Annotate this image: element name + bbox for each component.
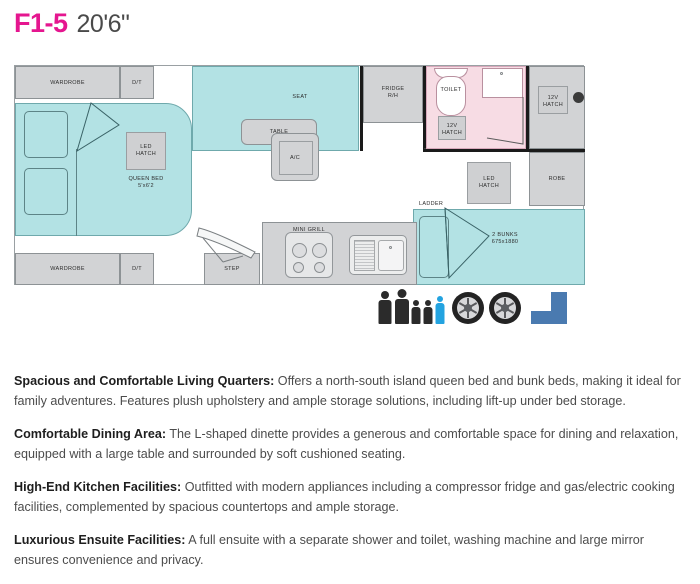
model-length: 20'6" xyxy=(77,10,130,39)
adult-icon-1-body xyxy=(379,300,392,324)
child-icon-2-head xyxy=(425,300,431,306)
kitchen-bench: MINI GRILL xyxy=(262,222,417,285)
model-code: F1-5 xyxy=(14,8,68,39)
adult-icon-1 xyxy=(378,291,392,324)
kitchen-sink xyxy=(349,235,407,275)
ladder-swing xyxy=(443,208,499,284)
ac-inner xyxy=(279,141,313,175)
dt-bottom: D/T xyxy=(120,253,154,285)
entry-door-swing xyxy=(193,222,265,270)
l-shape-horizontal xyxy=(531,311,567,324)
l-shape-layout-icon xyxy=(531,292,567,324)
wheel-icon-1 xyxy=(452,292,484,324)
rear-top-compartment: 12VHATCH xyxy=(529,66,585,149)
air-conditioner: A/C xyxy=(271,133,319,181)
under-bed-storage-upper xyxy=(24,111,68,158)
burner-3 xyxy=(293,262,304,273)
child-icon-1-body xyxy=(412,307,421,324)
occupancy-icon-strip xyxy=(378,288,567,324)
led-hatch-bed-label: LEDHATCH xyxy=(127,144,165,159)
wall-fridge-left xyxy=(360,66,363,151)
page-title: F1-5 20'6" xyxy=(14,8,129,39)
sink-drain-board xyxy=(354,240,375,271)
feature-item-2: Comfortable Dining Area: The L-shaped di… xyxy=(14,424,686,464)
hatch-12v-bathroom-label: 12VHATCH xyxy=(439,123,465,138)
child-icon-1 xyxy=(411,300,421,324)
wardrobe-bottom-label: WARDROBE xyxy=(16,266,119,273)
feature-item-4: Luxurious Ensuite Facilities: A full ens… xyxy=(14,530,686,570)
feature-1-title: Spacious and Comfortable Living Quarters… xyxy=(14,374,274,388)
wheel-icon-2-hub xyxy=(501,304,509,312)
under-bed-storage-lower xyxy=(24,168,68,215)
child-icon-3-body xyxy=(436,303,445,324)
wheel-icon-2 xyxy=(489,292,521,324)
feature-3-title: High-End Kitchen Facilities: xyxy=(14,480,181,494)
bunk-area xyxy=(413,209,585,285)
shower-door-swing xyxy=(477,96,529,148)
child-icon-2 xyxy=(423,300,433,324)
adult-icon-1-head xyxy=(381,291,389,299)
spare-wheel-icon xyxy=(573,92,584,103)
sink-basin xyxy=(378,240,404,271)
feature-2-title: Comfortable Dining Area: xyxy=(14,427,166,441)
fridge-label: FRIDGER/H xyxy=(364,86,422,101)
burner-4 xyxy=(314,262,325,273)
robe: ROBE xyxy=(529,152,585,206)
bed-centre-line xyxy=(76,149,77,236)
toilet-fixture xyxy=(436,76,466,116)
sink-plughole-icon xyxy=(389,246,392,249)
adult-icon-2-head xyxy=(397,289,406,298)
child-icon-2-body xyxy=(424,307,433,324)
lift-up-bed-wedge xyxy=(73,101,123,153)
burner-2 xyxy=(312,243,327,258)
led-hatch-rear-label: LEDHATCH xyxy=(468,176,510,191)
robe-label: ROBE xyxy=(530,176,584,183)
burner-1 xyxy=(292,243,307,258)
feature-list: Spacious and Comfortable Living Quarters… xyxy=(14,371,686,583)
feature-item-3: High-End Kitchen Facilities: Outfitted w… xyxy=(14,477,686,517)
led-hatch-rear: LEDHATCH xyxy=(467,162,511,204)
floorplan-diagram: WARDROBE D/T LEDHATCH QUEEN BED5'x6'2 WA… xyxy=(14,65,584,285)
feature-4-title: Luxurious Ensuite Facilities: xyxy=(14,533,185,547)
dt-bottom-label: D/T xyxy=(121,266,153,273)
wardrobe-top: WARDROBE xyxy=(15,66,120,99)
feature-item-1: Spacious and Comfortable Living Quarters… xyxy=(14,371,686,411)
hatch-12v-bathroom: 12VHATCH xyxy=(438,116,466,140)
child-icon-1-head xyxy=(413,300,419,306)
cooktop xyxy=(285,232,333,278)
child-icon-3-highlighted xyxy=(435,296,445,324)
adult-icon-2-body xyxy=(395,299,409,324)
child-icon-3-head xyxy=(437,296,443,302)
dt-top: D/T xyxy=(120,66,154,99)
dt-top-label: D/T xyxy=(121,80,153,87)
hatch-12v-rear: 12VHATCH xyxy=(538,86,568,114)
fridge: FRIDGER/H xyxy=(363,66,423,123)
wardrobe-top-label: WARDROBE xyxy=(16,80,119,87)
shower-drain-icon xyxy=(500,72,503,75)
wheel-icon-1-hub xyxy=(464,304,472,312)
hatch-12v-rear-label: 12VHATCH xyxy=(539,95,567,110)
wardrobe-bottom: WARDROBE xyxy=(15,253,120,285)
adult-icon-2 xyxy=(394,289,409,324)
led-hatch-bed: LEDHATCH xyxy=(126,132,166,170)
